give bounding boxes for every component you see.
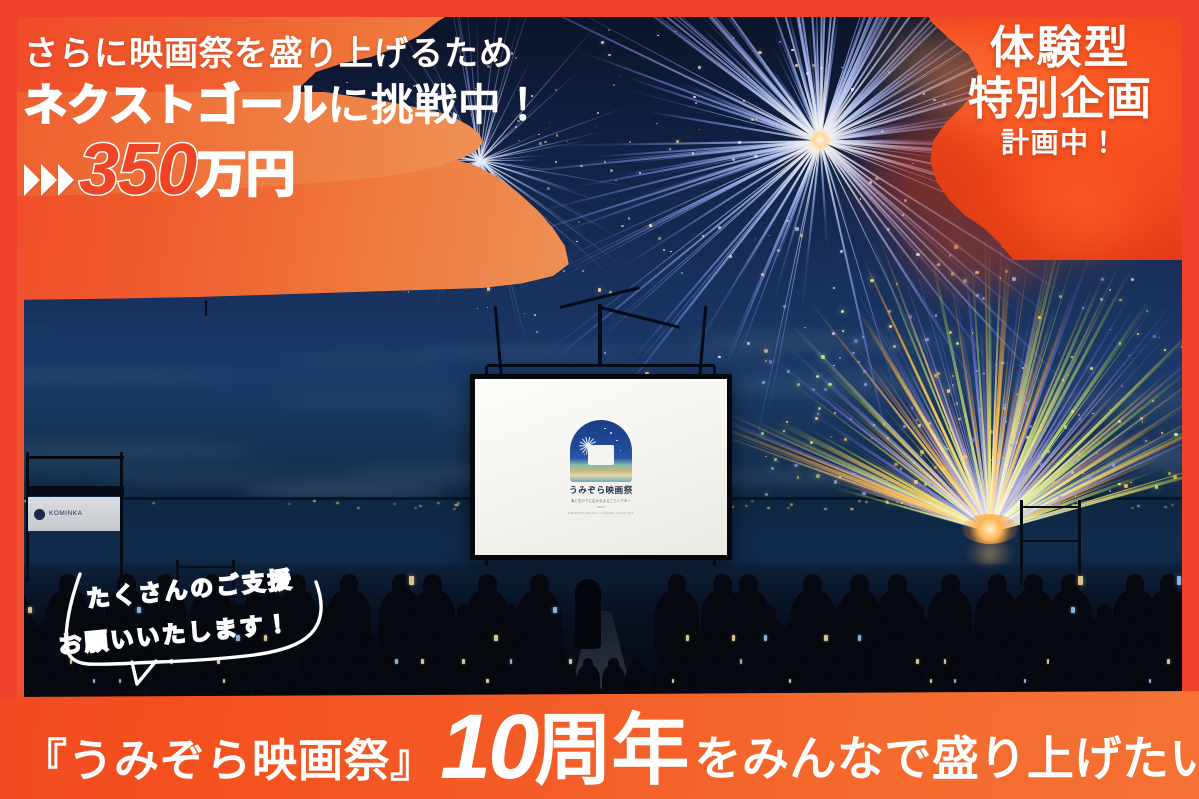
festival-name: 『うみぞら映画祭』 <box>22 738 436 783</box>
bottom-tail-text: をみんなで盛り上げたい <box>694 735 1199 782</box>
badge-line3: 計画中！ <box>945 128 1175 159</box>
headline-challenging: に挑戦中！ <box>327 82 545 130</box>
logo-year: 2023 <box>597 505 605 509</box>
festival-mark-icon <box>34 509 45 520</box>
support-speech-bubble: たくさんのご支援 お願いいたします！ <box>36 556 346 684</box>
goal-amount-unit: 万円 <box>197 150 295 201</box>
frame-inner-left <box>17 248 24 700</box>
goal-amount-row: 350 万円 <box>24 136 545 204</box>
bottom-title-row: 『うみぞら映画祭』 10 周年 をみんなで盛り上げたい ！ <box>22 708 1181 787</box>
headline-line2: ネクストゴールに挑戦中！ <box>24 84 545 129</box>
logo-subtitle: 海と空の下に広がるまるごとシアター <box>571 498 631 503</box>
anniversary-unit: 周年 <box>534 713 688 787</box>
outdoor-movie-screen: うみぞら映画祭 海と空の下に広がるまるごとシアター 2023 UMIZORA B… <box>470 374 732 560</box>
logo-arch-icon <box>570 420 632 482</box>
bubble-text: たくさんのご支援 お願いいたします！ <box>86 570 294 649</box>
campaign-banner: うみぞら映画祭 海と空の下に広がるまるごとシアター 2023 UMIZORA B… <box>0 0 1199 799</box>
frame-left <box>0 0 17 799</box>
anniversary-number: 10 <box>440 708 536 787</box>
headline-line1: さらに映画祭を盛り上げるため <box>24 26 545 75</box>
logo-title: うみぞら映画祭 <box>569 484 633 496</box>
logo-roman-text: UMIZORA BEACH CINEMA FILM FES <box>568 511 634 515</box>
frame-right <box>1182 0 1199 799</box>
chevron-right-icon <box>24 164 74 196</box>
frame-top <box>0 0 1199 17</box>
headline-next-goal: ネクストゴール <box>24 82 327 130</box>
festival-logo: うみぞら映画祭 海と空の下に広がるまるごとシアター 2023 UMIZORA B… <box>553 420 649 515</box>
headline-block: さらに映画祭を盛り上げるため ネクストゴールに挑戦中！ 350 万円 <box>24 26 545 205</box>
signboard-text: KOMINKA <box>49 510 82 518</box>
badge-line1: 体験型 <box>945 24 1175 73</box>
goal-amount-number: 350 <box>79 136 196 204</box>
badge-line2: 特別企画 <box>945 75 1175 124</box>
venue-signboard: KOMINKA <box>28 497 120 531</box>
special-plan-badge: 体験型 特別企画 計画中！ <box>945 24 1175 159</box>
